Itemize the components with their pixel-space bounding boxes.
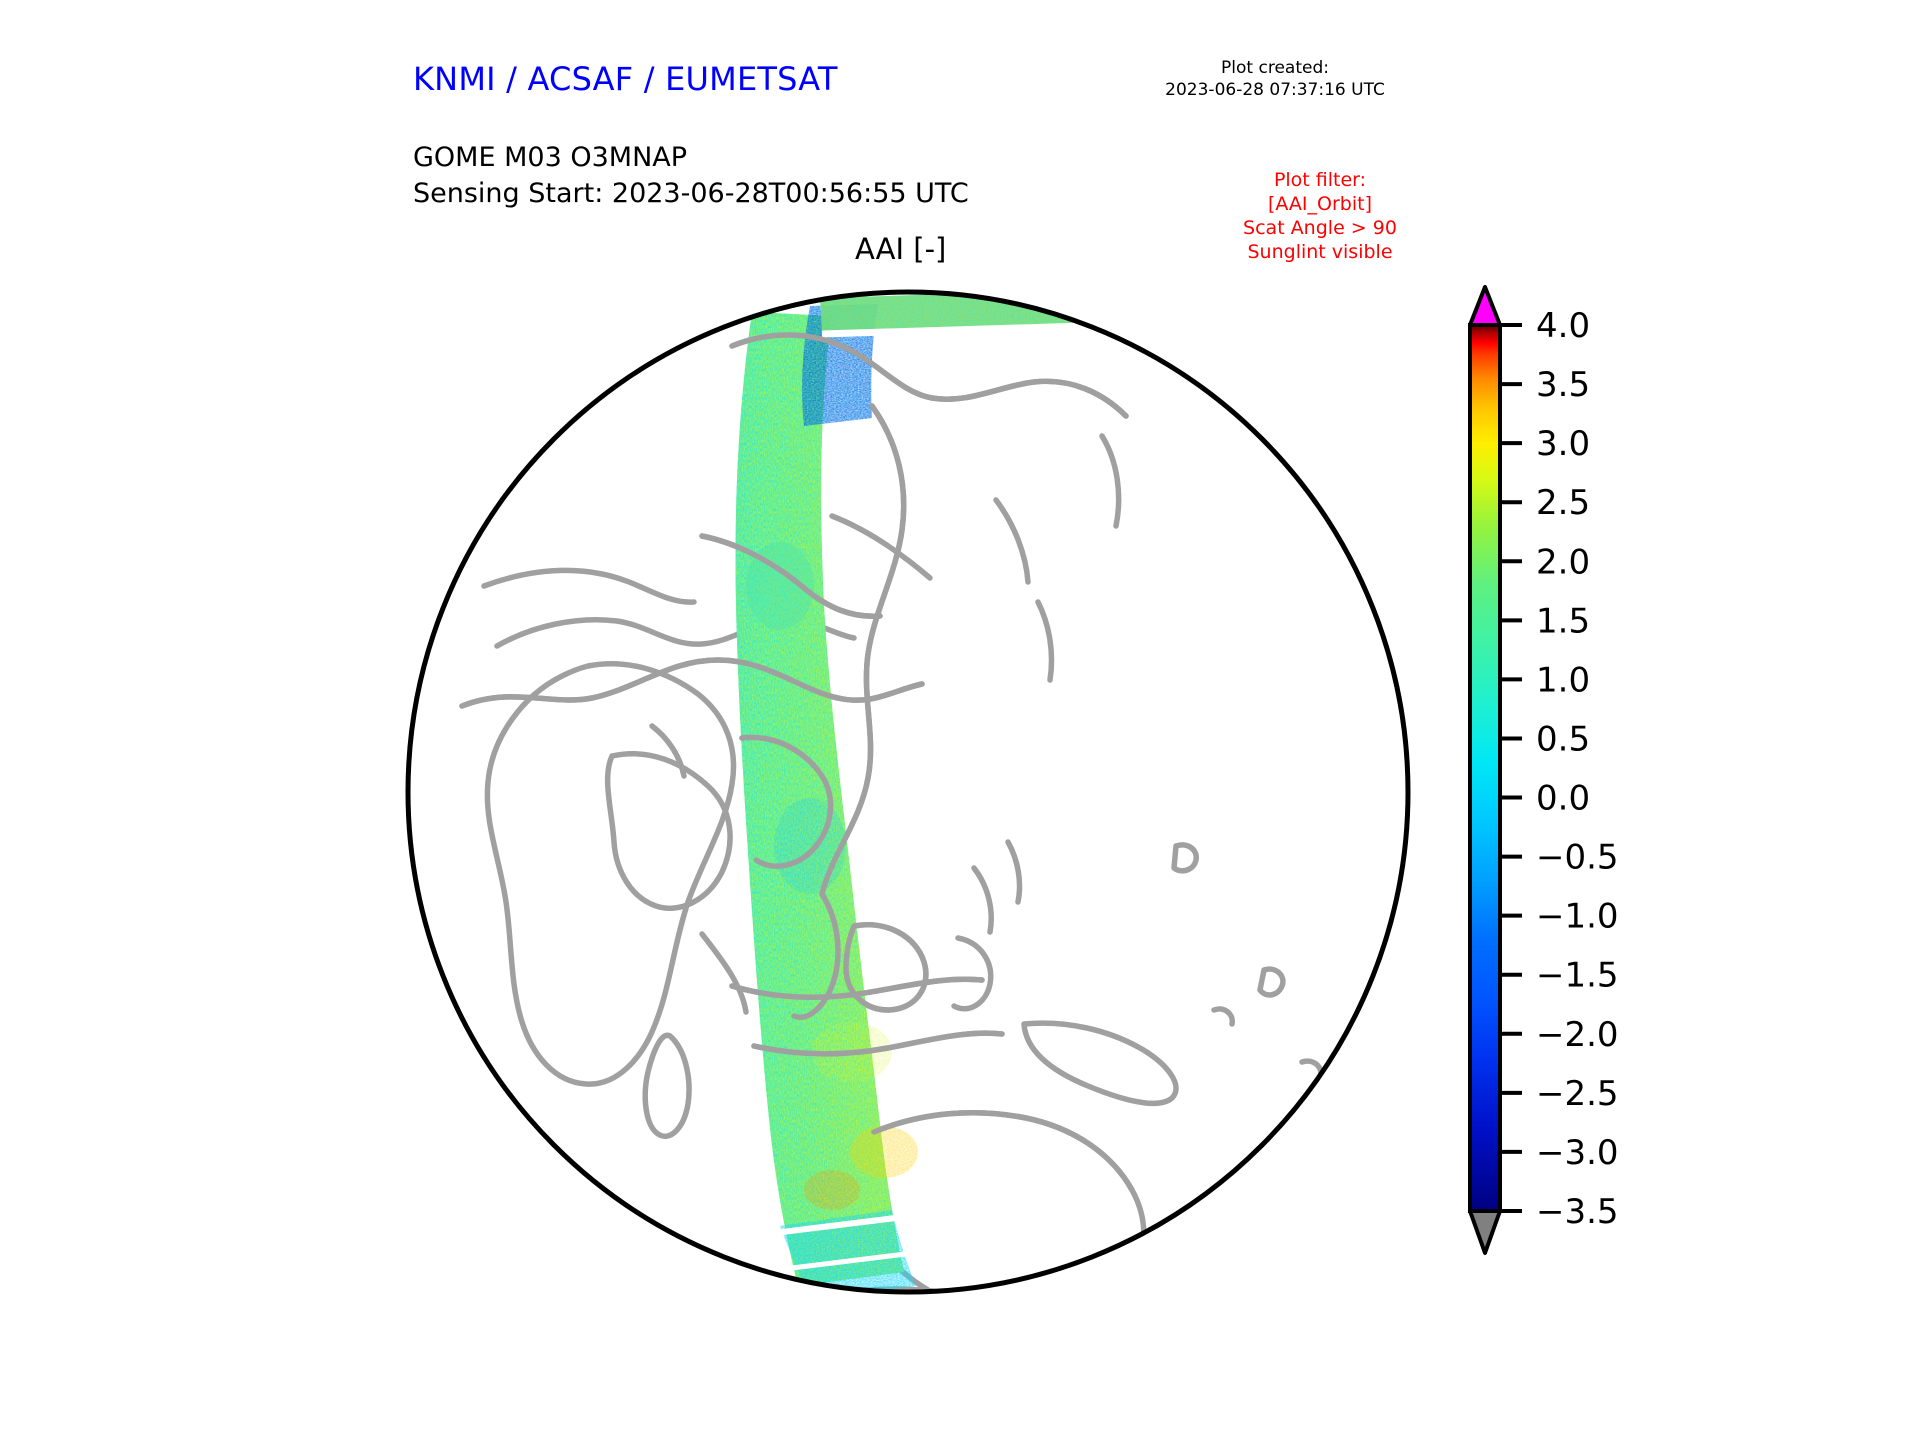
plot-filter-variable: [AAI_Orbit]: [1180, 192, 1460, 216]
colorbar: 4.03.53.02.52.01.51.00.50.0−0.5−1.0−1.5−…: [1448, 285, 1868, 1305]
map-canvas: [402, 286, 1414, 1298]
plot-filter-block: Plot filter: [AAI_Orbit] Scat Angle > 90…: [1180, 168, 1460, 265]
plot-created-label: Plot created:: [1100, 58, 1450, 80]
colorbar-tick-label: −0.5: [1536, 838, 1619, 878]
colorbar-over-arrow: [1470, 287, 1500, 325]
colorbar-tick-label: −2.0: [1536, 1015, 1619, 1055]
orthographic-map: [402, 286, 1414, 1298]
colorbar-tick-label: 1.5: [1536, 601, 1590, 641]
plot-filter-sunglint: Sunglint visible: [1180, 240, 1460, 264]
plot-created-timestamp: 2023-06-28 07:37:16 UTC: [1100, 80, 1450, 102]
sensing-start: Sensing Start: 2023-06-28T00:56:55 UTC: [413, 176, 969, 212]
colorbar-tick-label: 3.0: [1536, 424, 1590, 464]
product-name: GOME M03 O3MNAP: [413, 140, 969, 176]
colorbar-ticks: [1500, 325, 1522, 1211]
colorbar-tick-label: −2.5: [1536, 1074, 1619, 1114]
org-title: KNMI / ACSAF / EUMETSAT: [413, 60, 838, 98]
colorbar-tick-label: 4.0: [1536, 306, 1590, 346]
plot-created-block: Plot created: 2023-06-28 07:37:16 UTC: [1100, 58, 1450, 102]
colorbar-canvas: 4.03.53.02.52.01.51.00.50.0−0.5−1.0−1.5−…: [1448, 285, 1868, 1305]
colorbar-under-arrow: [1470, 1211, 1500, 1253]
colorbar-tick-label: 3.5: [1536, 365, 1590, 405]
colorbar-tick-label: −3.5: [1536, 1192, 1619, 1232]
plot-filter-scat-angle: Scat Angle > 90: [1180, 216, 1460, 240]
colorbar-tick-label: 0.5: [1536, 719, 1590, 759]
colorbar-tick-label: 0.0: [1536, 779, 1590, 819]
colorbar-tick-label: −3.0: [1536, 1133, 1619, 1173]
colorbar-tick-label: −1.0: [1536, 897, 1619, 937]
colorbar-tick-labels: 4.03.53.02.52.01.51.00.50.0−0.5−1.0−1.5−…: [1536, 306, 1619, 1232]
variable-title: AAI [-]: [855, 232, 946, 266]
colorbar-gradient: [1470, 325, 1500, 1211]
colorbar-tick-label: 1.0: [1536, 660, 1590, 700]
product-info-block: GOME M03 O3MNAP Sensing Start: 2023-06-2…: [413, 140, 969, 212]
plot-filter-label: Plot filter:: [1180, 168, 1460, 192]
colorbar-tick-label: 2.0: [1536, 542, 1590, 582]
colorbar-tick-label: 2.5: [1536, 483, 1590, 523]
colorbar-tick-label: −1.5: [1536, 956, 1619, 996]
